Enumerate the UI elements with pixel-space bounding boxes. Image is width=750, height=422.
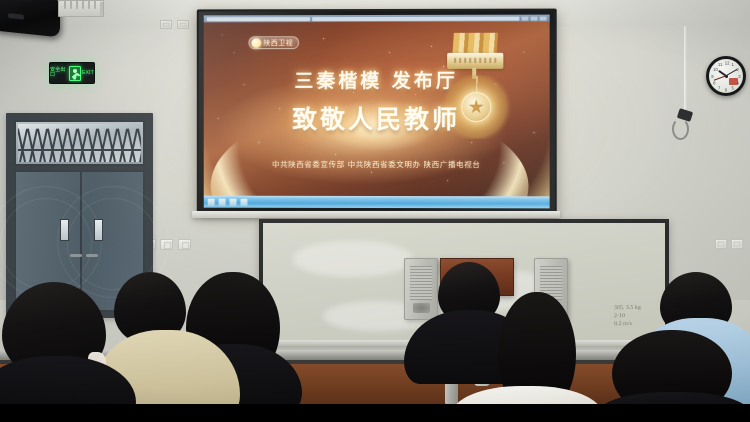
wall-speaker-left [404, 258, 438, 320]
screen-display-area: 陕西卫视 三秦楷模 发布厅 致敬人民教师 中共陕西省委宣 [204, 15, 550, 209]
clock-tick: 7 [718, 85, 720, 90]
transom-rail [18, 149, 141, 151]
clock-tick: 12 [725, 60, 730, 65]
exit-sign-label-en: EXIT [82, 71, 94, 76]
player-minimize-button[interactable] [521, 16, 528, 20]
clock-second-hand [714, 76, 726, 81]
screen-mount-shelf [192, 211, 560, 218]
taskbar-refresh-icon[interactable] [240, 198, 247, 205]
speaker-grille [410, 266, 432, 300]
door-transom-window [14, 120, 145, 166]
video-content: 陕西卫视 三秦楷模 发布厅 致敬人民教师 中共陕西省委宣 [204, 22, 550, 197]
running-man-exit-icon [69, 66, 81, 81]
program-title-block: 三秦楷模 发布厅 致敬人民教师 [204, 66, 550, 136]
clock-tick: 11 [718, 62, 722, 67]
program-title-line-2: 致敬人民教师 [204, 100, 550, 136]
taskbar-media-icon[interactable] [219, 198, 226, 205]
shaanxi-tv-orb-icon [251, 38, 261, 48]
medal-ribbon [452, 33, 498, 55]
wall-socket[interactable] [177, 20, 189, 29]
wall-socket[interactable] [160, 20, 172, 29]
ceiling-conduit-pipe [100, 2, 103, 16]
exit-sign-label-cn: 安全出口 [50, 68, 68, 78]
player-url-field[interactable] [312, 16, 520, 20]
taskbar-folder-icon[interactable] [230, 198, 237, 205]
clock-minute-hand [726, 69, 738, 77]
projection-screen[interactable]: 陕西卫视 三秦楷模 发布厅 致敬人民教师 中共陕西省委宣 [197, 9, 557, 215]
taskbar-browser-icon[interactable] [208, 198, 215, 205]
door-handle[interactable] [86, 254, 98, 257]
clock-tick: 4 [736, 81, 738, 86]
wall-socket[interactable] [731, 239, 743, 249]
clock-tick: 9 [711, 74, 713, 79]
player-close-button[interactable] [540, 16, 547, 20]
emergency-exit-sign: 安全出口 EXIT [49, 62, 95, 84]
light-switch[interactable] [178, 239, 191, 250]
hanging-rod [684, 26, 687, 114]
ceiling-projector [0, 0, 60, 37]
door-viewport-window [60, 219, 69, 241]
channel-logo-text: 陕西卫视 [263, 38, 293, 48]
clock-tick: 1 [732, 62, 734, 67]
door-handle[interactable] [70, 254, 82, 257]
program-credits: 中共陕西省委宣传部 中共陕西省委文明办 陕西广播电视台 [204, 159, 550, 170]
screen-bezel: 陕西卫视 三秦楷模 发布厅 致敬人民教师 中共陕西省委宣 [199, 11, 555, 213]
speaker-driver-icon [413, 303, 430, 313]
program-title-line-1: 三秦楷模 发布厅 [204, 66, 550, 93]
projector-lens-icon [8, 13, 24, 20]
clock-tick: 3 [738, 74, 740, 79]
clock-tick: 5 [732, 85, 734, 90]
wall-socket[interactable] [715, 239, 727, 249]
player-maximize-button[interactable] [531, 16, 538, 20]
windows-taskbar[interactable] [204, 196, 550, 209]
whiteboard-smudge [293, 241, 413, 277]
projector-mount [16, 0, 32, 3]
channel-logo: 陕西卫视 [248, 36, 299, 49]
hanging-cable-loop [672, 118, 689, 140]
clock-tick: 6 [725, 87, 727, 92]
ceiling-conduit-box [58, 0, 104, 17]
player-address-field[interactable] [207, 17, 310, 21]
clock-tick: 8 [713, 81, 715, 86]
lecture-hall-scene: 安全出口 EXIT [0, 0, 750, 422]
letterbox-bar-bottom [0, 404, 750, 422]
wall-clock: 121234567891011 [706, 56, 746, 96]
door-viewport-window [94, 219, 103, 241]
transom-grille [18, 124, 141, 162]
whiteboard-writing: 305. 3.5 kg 2-10 8.2 m/s [614, 304, 641, 328]
